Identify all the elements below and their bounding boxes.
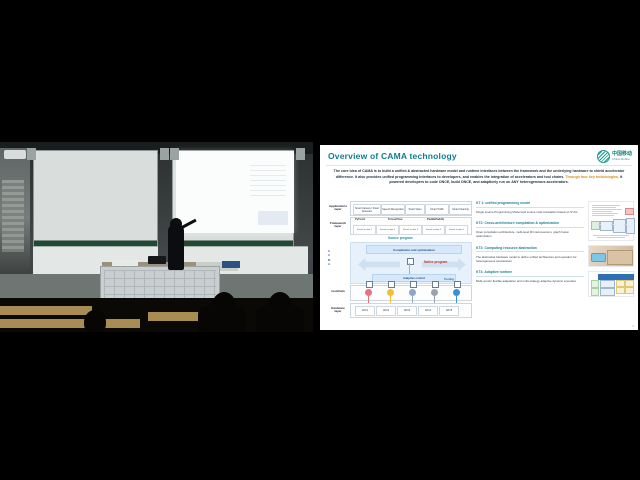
cama-architecture-diagram: Applicationslayer Smart Camera / Smart D…: [326, 201, 472, 323]
kt2-heading: KT2: Cross-architecture compilation & op…: [476, 221, 584, 228]
application-chip: Speech Recognition: [381, 204, 405, 215]
thumbnail-compilation-flowchart: [588, 201, 634, 241]
kt-block-3: KT3: Computing resource abstraction The …: [476, 246, 584, 263]
audience-body: [198, 305, 246, 332]
board-bracket: [170, 148, 179, 160]
kt-block-2: KT2: Cross-architecture compilation & op…: [476, 221, 584, 238]
board-bracket: [27, 148, 36, 160]
kernel-section-box: Kernel section 5: [445, 225, 468, 235]
kernel-section-box: Kernel section 3: [399, 225, 422, 235]
screen-root: Overview of CAMA technology 中国移动 China M…: [0, 0, 640, 480]
board-bracket: [160, 148, 169, 160]
logo-en-text: China Mobile: [612, 158, 632, 161]
tooling-label: Tooling: [444, 277, 454, 281]
applications-layer-label: Applicationslayer: [326, 205, 350, 212]
podium: [100, 266, 220, 302]
laptop: [148, 256, 166, 264]
kt-block-4: KT4: Adaptive runtime Multi-vendor flexi…: [476, 270, 584, 283]
slide-paragraph: The core idea of CAMA is to build a unif…: [330, 169, 628, 186]
china-mobile-logo: 中国移动 China Mobile: [597, 150, 632, 163]
native-program-label: Native program: [424, 260, 447, 264]
framework-paddlepaddle-label: PaddlePaddle: [427, 218, 444, 221]
podium-grid: [104, 270, 216, 298]
slide-title: Overview of CAMA technology: [328, 151, 457, 161]
hardware-gpu: GPU4: [418, 306, 438, 316]
toolchain-icon: [387, 289, 394, 296]
bench: [0, 306, 92, 315]
toolchain-icon: [365, 289, 372, 296]
audience-head: [84, 310, 106, 332]
toolchain-icon: [431, 289, 438, 296]
projector: [4, 150, 26, 159]
key-technologies-column: KT 1: unified programming model Single s…: [476, 201, 584, 290]
hardware-gpu: GPU3: [397, 306, 417, 316]
kt4-heading: KT4: Adaptive runtime: [476, 270, 584, 277]
compilation-box: Compilation and optimization: [366, 245, 462, 254]
thumbnail-column: [588, 201, 634, 301]
flow-connector: [409, 263, 410, 274]
audience-body: [256, 305, 304, 332]
kt1-body: Single source Programming Model and sour…: [476, 210, 584, 214]
board-bracket: [296, 148, 305, 160]
kernel-section-box: Kernel section 2: [376, 225, 399, 235]
kt4-body: Multi-vendor flexible adaptation and mul…: [476, 279, 584, 283]
hardware-gpu: GPU5: [439, 306, 459, 316]
toolchain-connector-node: [410, 281, 417, 288]
cama-vertical-label: CAMA: [328, 249, 330, 266]
presentation-slide[interactable]: Overview of CAMA technology 中国移动 China M…: [320, 145, 638, 330]
bench: [0, 319, 140, 328]
books: [222, 261, 240, 268]
title-divider: [326, 165, 632, 166]
radiator: [2, 180, 24, 252]
hardware-gpu: GPU2: [376, 306, 396, 316]
application-chip: Smart Video: [405, 204, 425, 215]
china-mobile-mark-icon: [597, 150, 610, 163]
kt2-body: Open compilation architecture, multi-lev…: [476, 230, 584, 238]
lecture-hall-video[interactable]: [0, 142, 313, 332]
toolchain-connector-node: [454, 281, 461, 288]
application-chip: Smart Traffic: [425, 204, 449, 215]
projected-content: [250, 165, 286, 199]
toolchain-label: toolchain: [326, 290, 350, 293]
toolchain-connector-node: [432, 281, 439, 288]
thumbnail-runtime-architecture: [588, 271, 634, 297]
kt3-heading: KT3: Computing resource abstraction: [476, 246, 584, 253]
hardware-layer-label: Hardwarelayer: [326, 307, 350, 314]
toolchain-connector-node: [388, 281, 395, 288]
application-chip: Smart Cleaning: [449, 204, 472, 215]
toolchain-icon: [409, 289, 416, 296]
hardware-gpu: GPU1: [355, 306, 375, 316]
framework-layer-label: Frameworklayer: [326, 222, 350, 229]
source-program-label: Source program: [388, 236, 413, 240]
thumbnail-accelerator-photo: [588, 245, 634, 267]
kernel-section-box: Kernel section 4: [422, 225, 445, 235]
kernel-section-box: Kernel section 1: [353, 225, 376, 235]
kt1-heading: KT 1: unified programming model: [476, 201, 584, 208]
framework-tensorflow-label: TensorFlow: [388, 218, 402, 221]
framework-pytorch-label: PyTorch: [355, 218, 365, 221]
hardware-more-dots: · · ·: [460, 307, 465, 311]
application-chip: Smart Camera / Smart Detection: [353, 204, 381, 215]
presenter-silhouette: [168, 224, 184, 270]
kt3-body: The abstracted hardware model to define …: [476, 255, 584, 263]
slide-page-number: 6: [633, 325, 634, 328]
kt-block-1: KT 1: unified programming model Single s…: [476, 201, 584, 214]
paragraph-highlight: Through four key technologies,: [565, 175, 619, 179]
side-wall: [0, 148, 30, 276]
toolchain-icon: [453, 289, 460, 296]
projected-content-block: [258, 211, 288, 225]
toolchain-connector-node: [366, 281, 373, 288]
